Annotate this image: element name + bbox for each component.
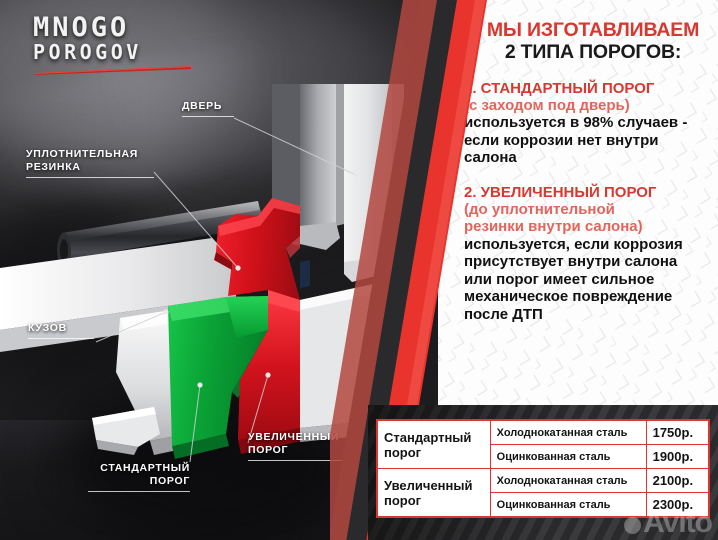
price-table-zone: Стандартный порог Холоднокатанная сталь … <box>368 405 718 540</box>
callout-seal: УПЛОТНИТЕЛЬНАЯ РЕЗИНКА <box>26 148 154 178</box>
callout-seal-label-line1: УПЛОТНИТЕЛЬНАЯ <box>26 148 138 160</box>
callout-seal-label-line2: РЕЗИНКА <box>26 161 81 173</box>
price-value-2: 1900р. <box>646 445 709 469</box>
headline-line1: МЫ ИЗГОТАВЛИВАЕМ <box>464 20 704 40</box>
callout-body-rule <box>28 338 94 339</box>
price-value-1: 1750р. <box>646 420 709 445</box>
callout-standard-sill: СТАНДАРТНЫЙ ПОРОГ <box>88 462 190 492</box>
section-enlarged-subtitle-line2: резинки внутри салона) <box>464 218 704 236</box>
callout-enlarged-sill: УВЕЛИЧЕННЫЙ ПОРОГ <box>248 431 352 461</box>
headline-line2: 2 ТИПА ПОРОГОВ: <box>464 42 704 62</box>
price-value-3: 2100р. <box>646 469 709 493</box>
callout-enlarged-rule <box>248 460 352 461</box>
section-standard-body: используется в 98% случаев - если корроз… <box>464 114 704 167</box>
headline: МЫ ИЗГОТАВЛИВАЕМ 2 ТИПА ПОРОГОВ: <box>464 20 704 63</box>
callout-enlarged-line1: УВЕЛИЧЕННЫЙ <box>248 431 339 443</box>
section-standard: 1. СТАНДАРТНЫЙ ПОРОГ (с заходом под двер… <box>464 80 704 167</box>
section-enlarged-body: используется, если коррозия присутствует… <box>464 236 704 324</box>
callout-body: КУЗОВ <box>28 322 94 339</box>
callout-door-rule <box>182 116 234 117</box>
callout-seal-rule <box>26 177 154 178</box>
door-outer-skin-part <box>344 84 404 282</box>
callout-standard-rule <box>88 491 190 492</box>
brand-logo-swoosh <box>33 65 193 75</box>
callout-door: ДВЕРЬ <box>182 100 234 117</box>
brand-logo: MNOGO POROGOV <box>33 14 193 75</box>
section-standard-title: 1. СТАНДАРТНЫЙ ПОРОГ <box>464 80 704 97</box>
table-row: Увеличенный порог Холоднокатанная сталь … <box>377 469 709 493</box>
price-material-3: Холоднокатанная сталь <box>490 469 646 493</box>
section-standard-subtitle: (с заходом под дверь) <box>464 97 704 115</box>
brand-logo-line1: MNOGO <box>33 14 193 41</box>
section-enlarged: 2. УВЕЛИЧЕННЫЙ ПОРОГ (до уплотнительной … <box>464 184 704 324</box>
info-pane-content: МЫ ИЗГОТАВЛИВАЕМ 2 ТИПА ПОРОГОВ: 1. СТАН… <box>438 0 718 323</box>
callout-enlarged-line2: ПОРОГ <box>248 444 288 456</box>
callout-door-label: ДВЕРЬ <box>182 100 222 112</box>
callout-standard-line2: ПОРОГ <box>150 475 190 487</box>
price-row-type-enlarged: Увеличенный порог <box>377 469 490 518</box>
callout-body-label: КУЗОВ <box>28 322 67 334</box>
poster: ДВЕРЬ УПЛОТНИТЕЛЬНАЯ РЕЗИНКА КУЗОВ СТАНД… <box>0 0 718 540</box>
price-material-2: Оцинкованная сталь <box>490 445 646 469</box>
section-enlarged-title: 2. УВЕЛИЧЕННЫЙ ПОРОГ <box>464 184 704 201</box>
callout-standard-line1: СТАНДАРТНЫЙ <box>100 462 190 474</box>
brand-logo-line2: POROGOV <box>33 41 193 63</box>
price-material-1: Холоднокатанная сталь <box>490 420 646 445</box>
table-row: Стандартный порог Холоднокатанная сталь … <box>377 420 709 445</box>
price-row-type-standard: Стандартный порог <box>377 420 490 469</box>
section-enlarged-subtitle-line1: (до уплотнительной <box>464 201 704 219</box>
price-material-4: Оцинкованная сталь <box>490 493 646 518</box>
price-value-4: 2300р. <box>646 493 709 518</box>
price-table: Стандартный порог Холоднокатанная сталь … <box>376 419 710 518</box>
